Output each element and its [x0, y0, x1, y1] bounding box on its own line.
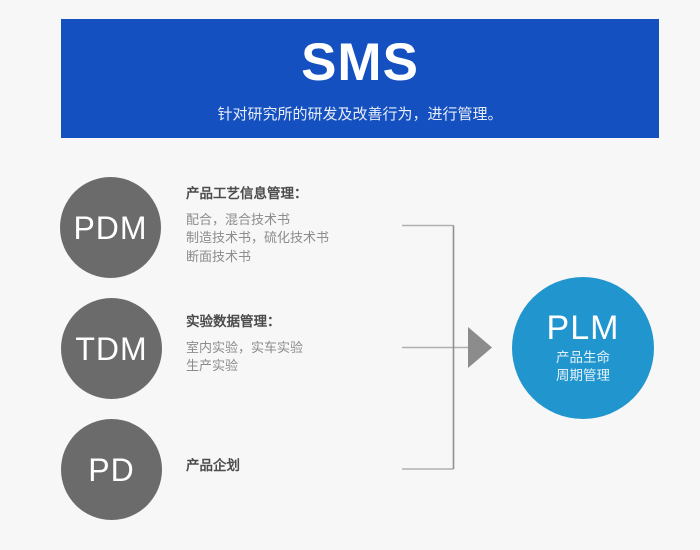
target-badge-label: PLM — [547, 311, 620, 345]
diagram-canvas: SMS 针对研究所的研发及改善行为，进行管理。 PDM 产品工艺信息管理： 配合… — [0, 0, 700, 550]
module-node-tdm[interactable]: TDM — [61, 298, 162, 399]
target-node-plm[interactable]: PLM 产品生命 周期管理 — [512, 277, 654, 419]
module-description-tdm: 实验数据管理： 室内实验，实车实验 生产实验 — [186, 314, 303, 377]
module-badge-label: TDM — [75, 333, 147, 365]
list-item: 制造技术书，硫化技术书 — [186, 230, 329, 249]
module-title: 产品企划 — [186, 458, 240, 476]
module-title: 实验数据管理： — [186, 314, 303, 332]
module-node-pdm[interactable]: PDM — [60, 177, 161, 278]
module-detail-list: 配合，混合技术书 制造技术书，硫化技术书 断面技术书 — [186, 212, 329, 269]
module-detail-list: 室内实验，实车实验 生产实验 — [186, 340, 303, 378]
target-subtitle: 产品生命 周期管理 — [556, 349, 610, 385]
module-node-pd[interactable]: PD — [61, 419, 162, 520]
module-description-pdm: 产品工艺信息管理： 配合，混合技术书 制造技术书，硫化技术书 断面技术书 — [186, 186, 329, 268]
list-item: 室内实验，实车实验 — [186, 340, 303, 359]
module-badge-label: PD — [88, 454, 134, 486]
module-description-pd: 产品企划 — [186, 458, 240, 476]
module-badge-label: PDM — [73, 212, 147, 244]
list-item: 断面技术书 — [186, 249, 329, 268]
bracket-arrow-icon — [396, 215, 500, 480]
module-title: 产品工艺信息管理： — [186, 186, 329, 204]
page-title: SMS — [301, 36, 419, 89]
target-subtitle-line-2: 周期管理 — [556, 367, 610, 385]
target-subtitle-line-1: 产品生命 — [556, 349, 610, 367]
list-item: 配合，混合技术书 — [186, 212, 329, 231]
header-banner: SMS 针对研究所的研发及改善行为，进行管理。 — [61, 19, 659, 138]
list-item: 生产实验 — [186, 358, 303, 377]
header-subtitle: 针对研究所的研发及改善行为，进行管理。 — [217, 105, 502, 123]
